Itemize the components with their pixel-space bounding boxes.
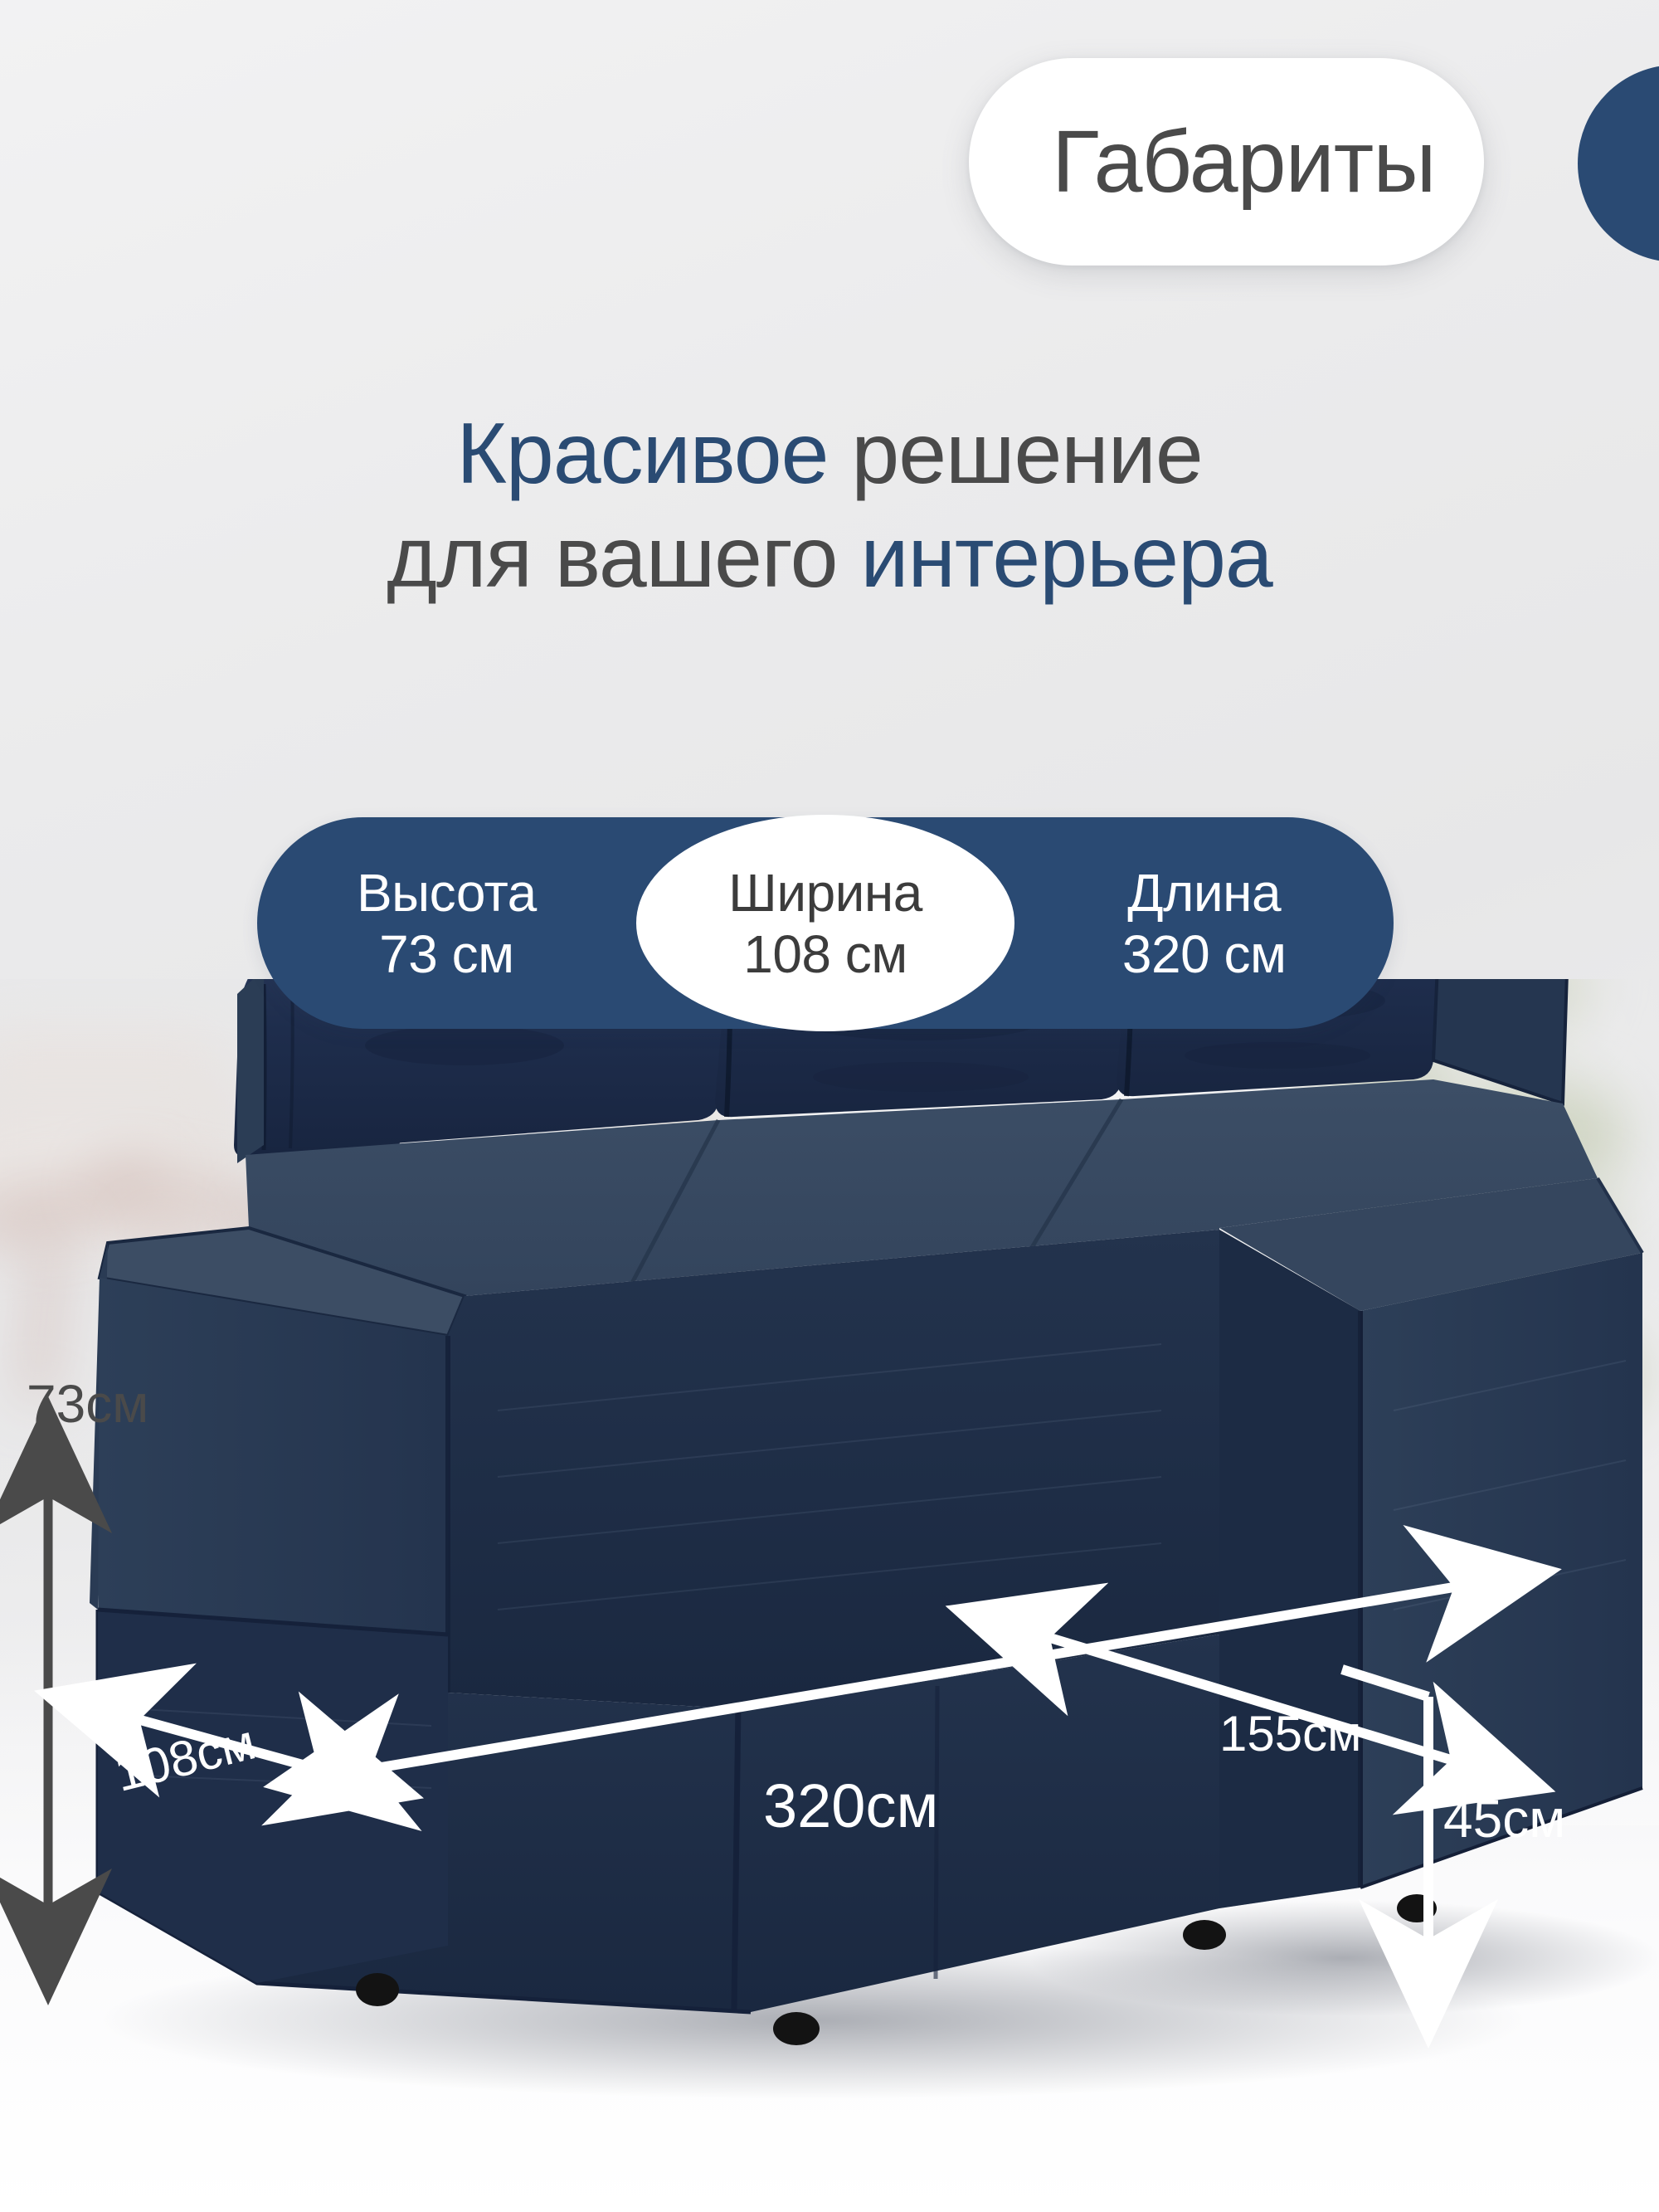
annotation-height-73: 73см — [27, 1377, 148, 1430]
dimension-height-label: Высота — [357, 866, 537, 919]
dimension-pill: Высота 73 см Ширина 108 см Длина 320 см — [257, 817, 1394, 1029]
headline-line-1: Красивое решение — [0, 402, 1659, 506]
headline-line1-rest: решение — [828, 406, 1202, 502]
headline: Красивое решение для вашего интерьера — [0, 402, 1659, 610]
badge-accent-dot — [1578, 65, 1659, 262]
annotation-chaise-height-45: 45см — [1443, 1792, 1565, 1845]
dimension-length-value: 320 см — [1122, 928, 1287, 981]
sofa-illustration — [0, 979, 1659, 2212]
dimension-width-value: 108 см — [743, 928, 907, 981]
dimension-length-label: Длина — [1127, 866, 1281, 919]
dimension-width-label: Ширина — [728, 866, 922, 919]
headline-line-2: для вашего интерьера — [0, 506, 1659, 610]
headline-line2-rest: для вашего — [387, 509, 860, 606]
annotation-chaise-depth-155: 155см — [1219, 1709, 1361, 1759]
dimension-cell-height: Высота 73 см — [257, 817, 636, 1029]
gabarity-badge: Габариты — [969, 58, 1484, 266]
headline-line1-accent: Красивое — [456, 406, 828, 502]
infographic-canvas: 73см 108см 320см 155см 45см Габариты Кра… — [0, 0, 1659, 2212]
dimension-height-value: 73 см — [379, 928, 513, 981]
dimension-cell-width: Ширина 108 см — [636, 815, 1015, 1031]
headline-line2-accent: интерьера — [860, 509, 1272, 606]
gabarity-badge-label: Габариты — [1052, 118, 1436, 206]
dimension-cell-length: Длина 320 см — [1014, 817, 1394, 1029]
annotation-length-320: 320см — [763, 1776, 938, 1837]
